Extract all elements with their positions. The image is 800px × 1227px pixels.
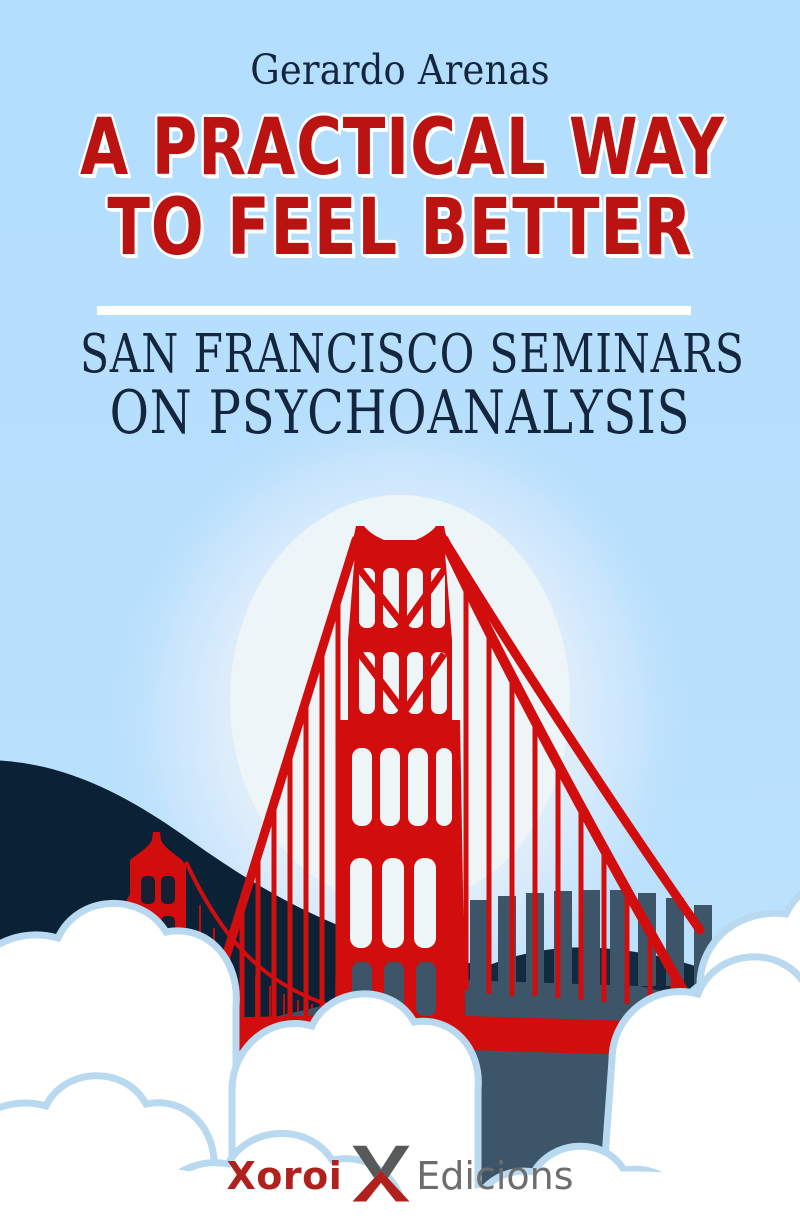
x-mark-icon <box>350 1142 412 1204</box>
book-cover: Gerardo Arenas A PRACTICAL WAY TO FEEL B… <box>0 0 800 1227</box>
publisher-name-right: Edicions <box>416 1157 573 1195</box>
publisher-name-left: Xoroi <box>226 1157 342 1195</box>
cover-illustration <box>0 0 800 1227</box>
publisher-logo[interactable]: Xoroi Edicions <box>0 1142 800 1204</box>
